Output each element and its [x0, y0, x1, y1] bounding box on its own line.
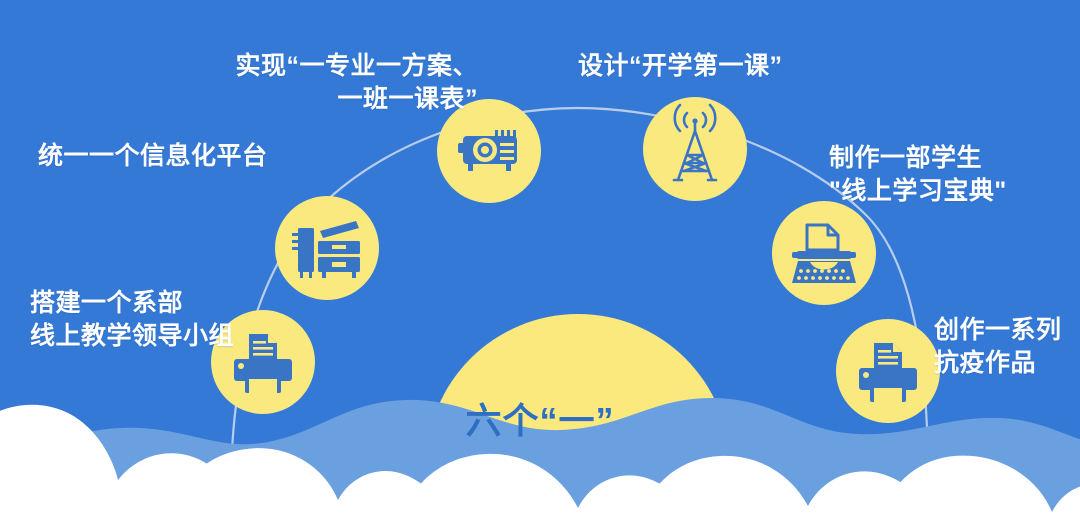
infographic-poster: 实现“一专业一方案、 一班一课表” 统一一个信息化平台 搭建一个系部 线上教学领…: [0, 0, 1080, 532]
label-unified-platform: 统一一个信息化平台: [38, 140, 268, 173]
label-implement-plan: 实现“一专业一方案、 一班一课表”: [235, 50, 478, 115]
label-teaching-leadership-group: 搭建一个系部 线上教学领导小组: [30, 287, 234, 352]
center-title: 六个“一”: [0, 392, 1080, 444]
label-online-study-guide: 制作一部学生 "线上学习宝典": [829, 142, 1007, 207]
label-anti-epidemic-works: 创作一系列 抗疫作品: [934, 314, 1062, 379]
poster-background: [0, 0, 1080, 532]
label-first-lesson: 设计“开学第一课”: [578, 50, 783, 83]
